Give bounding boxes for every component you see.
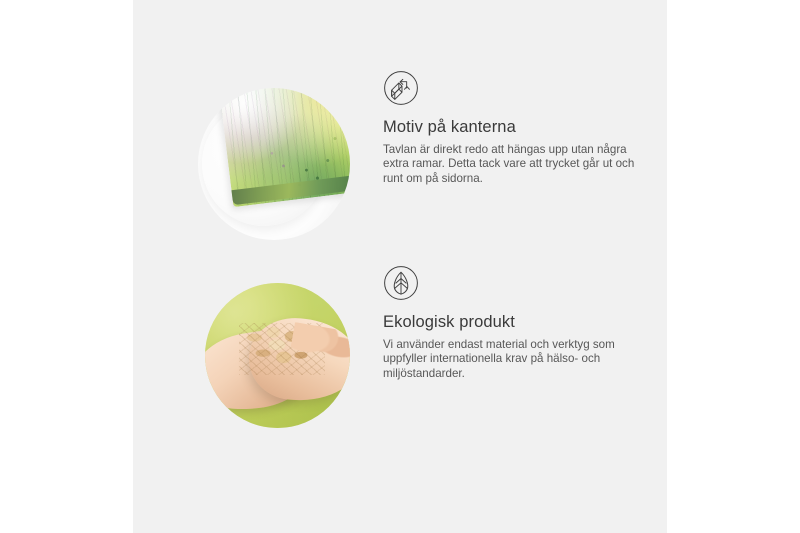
feature-body: Tavlan är direkt redo att hängas upp uta… [383, 143, 645, 187]
leaf-icon [383, 265, 419, 301]
feature-block-canvas-edges: Motiv på kanterna Tavlan är direkt redo … [133, 70, 667, 260]
feature-block-eco-product: Ekologisk produkt Vi använder endast mat… [133, 265, 667, 450]
feature-heading: Motiv på kanterna [383, 118, 653, 138]
feature-text-eco-product: Ekologisk produkt Vi använder endast mat… [383, 265, 653, 382]
feature-heading: Ekologisk produkt [383, 313, 653, 333]
canvas-edge-wrap-icon [383, 70, 419, 106]
product-feature-banner: Motiv på kanterna Tavlan är direkt redo … [0, 0, 800, 533]
feature-body: Vi använder endast material och verktyg … [383, 338, 645, 382]
content-panel: Motiv på kanterna Tavlan är direkt redo … [133, 0, 667, 533]
canvas-print-corner-photo [198, 88, 350, 240]
hands-with-wood-chips-photo [205, 283, 350, 428]
canvas-slab [219, 88, 350, 207]
feature-text-canvas-edges: Motiv på kanterna Tavlan är direkt redo … [383, 70, 653, 187]
